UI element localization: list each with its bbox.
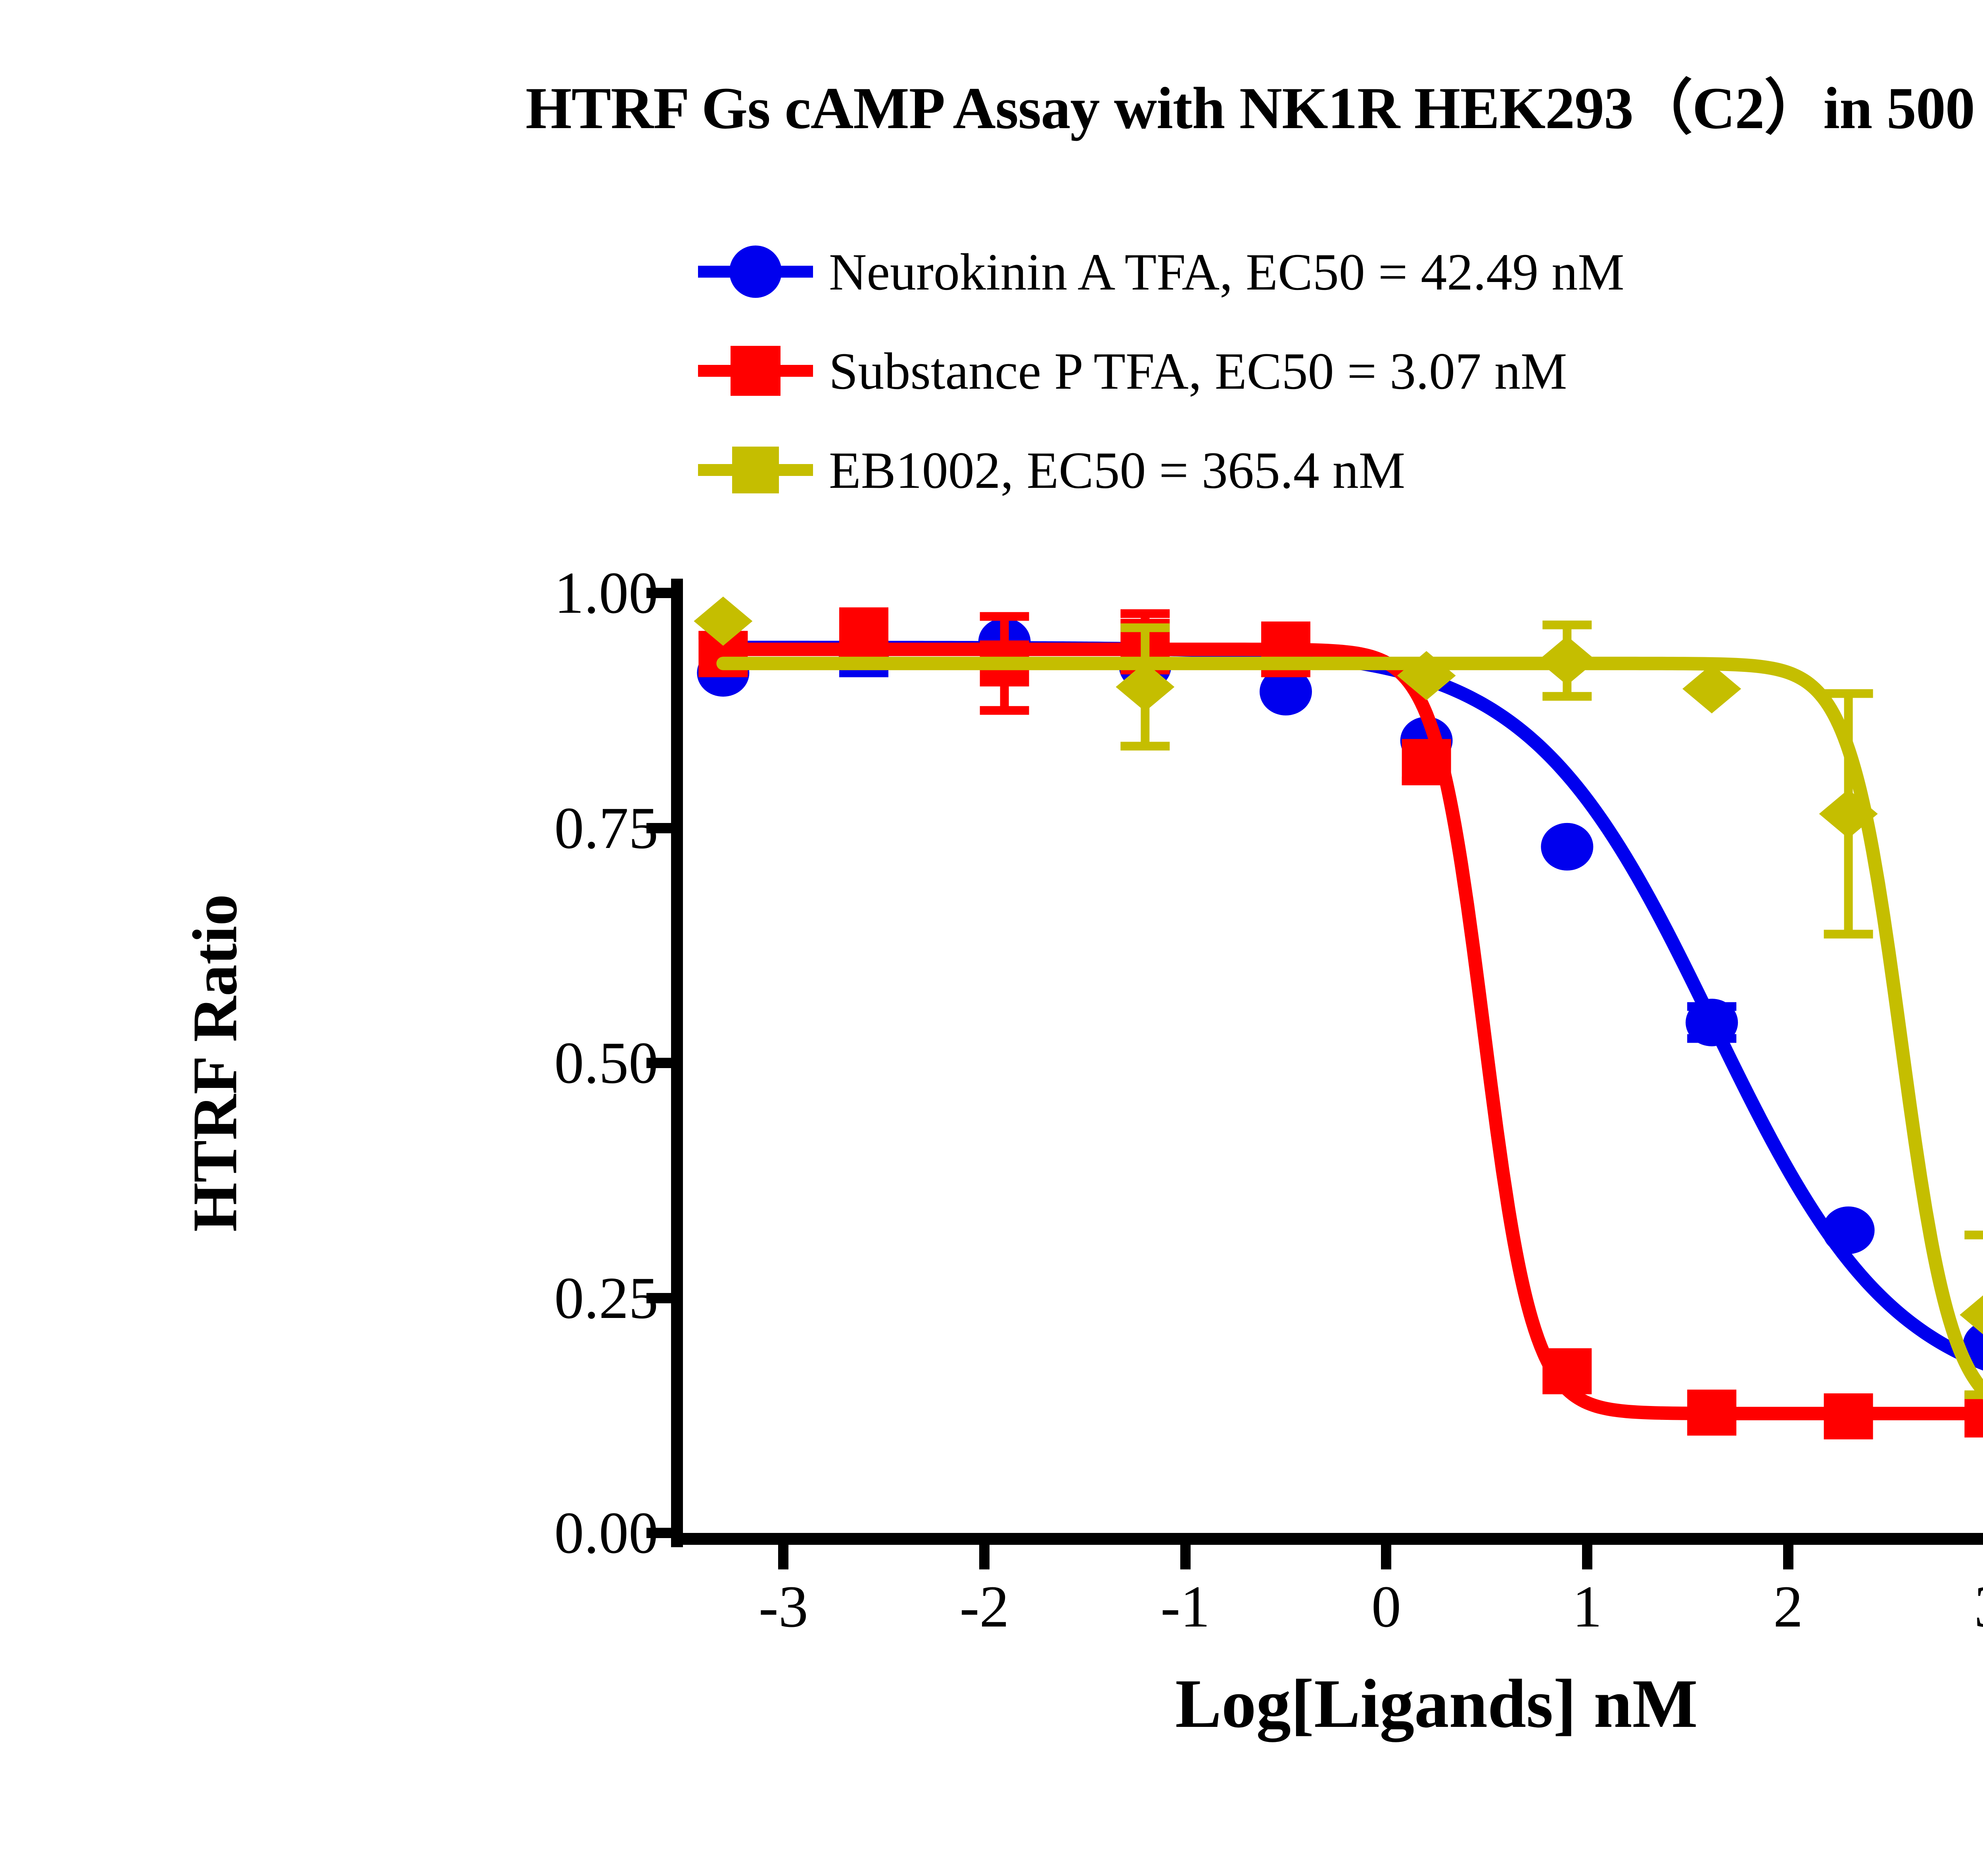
data-point-circle [1686, 999, 1738, 1046]
x-tick-label: 2 [1709, 1573, 1868, 1641]
data-point-circle [1541, 823, 1593, 871]
y-axis-line [671, 579, 683, 1547]
x-tick-label: -2 [905, 1573, 1064, 1641]
x-tick [1582, 1545, 1592, 1569]
legend-marker-diamond [698, 446, 813, 494]
y-tick-label: 0.00 [420, 1499, 658, 1567]
y-tick-label: 1.00 [420, 559, 658, 627]
data-point-square [1542, 1348, 1592, 1394]
y-tick-label: 0.50 [420, 1029, 658, 1097]
x-tick [979, 1545, 990, 1569]
data-point-square [1687, 1390, 1736, 1436]
x-tick [1180, 1545, 1191, 1569]
legend-label-neurokinin-a: Neurokinin A TFA, EC50 = 42.49 nM [813, 242, 1624, 302]
series-curve [723, 649, 1983, 1414]
x-tick-label: -1 [1106, 1573, 1265, 1641]
series-substance-p-tfa [698, 612, 1983, 1439]
x-tick [1381, 1545, 1391, 1569]
series-canvas [683, 593, 1983, 1533]
chart-legend: Neurokinin A TFA, EC50 = 42.49 nM Substa… [698, 222, 1624, 520]
legend-marker-circle [698, 248, 813, 295]
x-tick [778, 1545, 788, 1569]
data-point-square [839, 612, 888, 658]
legend-marker-square [698, 347, 813, 395]
legend-entry-neurokinin-a[interactable]: Neurokinin A TFA, EC50 = 42.49 nM [698, 222, 1624, 321]
chart-figure: HTRF Gs cAMP Assay with NK1R HEK293（C2）i… [0, 0, 1983, 1876]
series-neurokinin-a-tfa [697, 618, 1983, 1413]
y-axis-label: HTRF Ratio [178, 894, 252, 1232]
legend-entry-substance-p[interactable]: Substance P TFA, EC50 = 3.07 nM [698, 321, 1624, 420]
y-tick-label: 0.25 [420, 1264, 658, 1332]
x-tick-label: -3 [704, 1573, 863, 1641]
series-curve [723, 664, 1983, 1396]
data-point-square [1402, 739, 1451, 785]
legend-label-substance-p: Substance P TFA, EC50 = 3.07 nM [813, 341, 1567, 401]
data-point-circle [1822, 1207, 1875, 1254]
chart-title: HTRF Gs cAMP Assay with NK1R HEK293（C2）i… [0, 59, 1983, 146]
data-point-diamond [1538, 636, 1596, 685]
y-tick-label: 0.75 [420, 794, 658, 862]
series-curve [723, 647, 1983, 1393]
x-tick [1783, 1545, 1793, 1569]
data-point-square [1824, 1393, 1873, 1439]
plot-area: 1.000.750.500.250.00 -3-2-101234 HTRF Ra… [683, 593, 1983, 1533]
x-tick-label: 1 [1508, 1573, 1667, 1641]
x-tick-label: 3 [1910, 1573, 1983, 1641]
series-eb1002 [694, 597, 1983, 1396]
data-point-diamond [1682, 664, 1741, 714]
legend-entry-eb1002[interactable]: EB1002, EC50 = 365.4 nM [698, 420, 1624, 520]
legend-label-eb1002: EB1002, EC50 = 365.4 nM [813, 440, 1405, 501]
x-tick-label: 0 [1307, 1573, 1465, 1641]
x-axis-line [671, 1533, 1983, 1545]
x-axis-label: Log[Ligands] nM [1175, 1664, 1698, 1744]
